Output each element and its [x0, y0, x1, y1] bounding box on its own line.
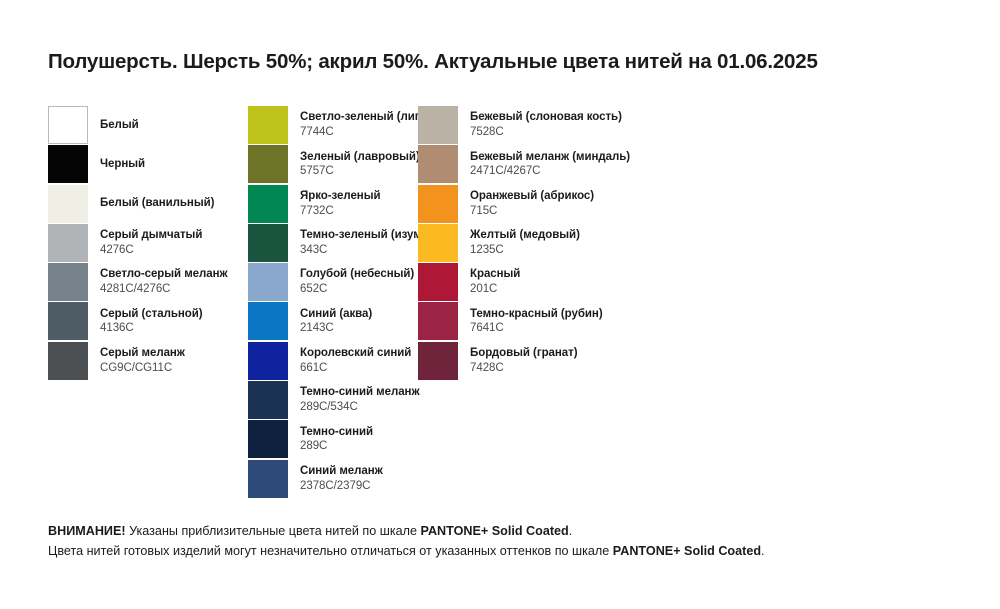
color-swatch[interactable] — [418, 106, 458, 144]
swatch-pantone-code: 4136C — [100, 321, 203, 336]
swatch-label-group: Белый — [100, 106, 139, 144]
color-swatch[interactable] — [248, 302, 288, 340]
swatch-name: Белый — [100, 118, 139, 133]
footer-line-1-brand: PANTONE+ Solid Coated — [420, 524, 568, 538]
swatch-label-group: Бежевый меланж (миндаль)2471C/4267C — [470, 145, 630, 183]
footer-line-2-text: Цвета нитей готовых изделий могут незнач… — [48, 544, 613, 558]
swatch-name: Голубой (небесный) — [300, 267, 414, 282]
swatch-name: Светло-зеленый (липа) — [300, 110, 432, 125]
swatch-name: Синий меланж — [300, 464, 383, 479]
swatch-label-group: Темно-синий меланж289C/534C — [300, 381, 420, 419]
swatch-label-group: Серый (стальной)4136C — [100, 302, 203, 340]
swatch-name: Бежевый (слоновая кость) — [470, 110, 622, 125]
swatch-pantone-code: 2378C/2379C — [300, 479, 383, 494]
color-swatch[interactable] — [418, 145, 458, 183]
swatch-name: Ярко-зеленый — [300, 189, 381, 204]
color-swatch[interactable] — [248, 420, 288, 458]
swatch-name: Оранжевый (абрикос) — [470, 189, 594, 204]
swatch-name: Черный — [100, 157, 145, 172]
swatch-pantone-code: 7744C — [300, 125, 432, 140]
color-swatch[interactable] — [48, 106, 88, 144]
color-swatch[interactable] — [418, 342, 458, 380]
swatch-pantone-code: 2143C — [300, 321, 372, 336]
swatch-name: Бежевый меланж (миндаль) — [470, 150, 630, 165]
footer-warning-label: ВНИМАНИЕ! — [48, 524, 126, 538]
swatch-name: Желтый (медовый) — [470, 228, 580, 243]
swatch-pantone-code: 715C — [470, 204, 594, 219]
swatch-label-group: Ярко-зеленый7732C — [300, 185, 381, 223]
swatch-name: Королевский синий — [300, 346, 411, 361]
swatch-name: Серый (стальной) — [100, 307, 203, 322]
swatch-name: Синий (аква) — [300, 307, 372, 322]
swatch-pantone-code: 201C — [470, 282, 520, 297]
swatch-label-group: Синий меланж2378C/2379C — [300, 460, 383, 498]
swatch-pantone-code: 4276C — [100, 243, 202, 258]
swatch-label-group: Синий (аква)2143C — [300, 302, 372, 340]
swatch-pantone-code: 7641C — [470, 321, 603, 336]
swatch-name: Зеленый (лавровый) — [300, 150, 420, 165]
footer-notice: ВНИМАНИЕ! Указаны приблизительные цвета … — [48, 521, 958, 562]
color-swatch[interactable] — [418, 263, 458, 301]
footer-line-2-end: . — [761, 544, 765, 558]
color-swatch[interactable] — [248, 263, 288, 301]
swatch-name: Темно-синий меланж — [300, 385, 420, 400]
swatch-pantone-code: CG9C/CG11C — [100, 361, 185, 376]
swatch-name: Серый меланж — [100, 346, 185, 361]
swatch-pantone-code: 7428C — [470, 361, 578, 376]
color-swatch[interactable] — [48, 185, 88, 223]
page-title: Полушерсть. Шерсть 50%; акрил 50%. Актуа… — [48, 50, 818, 74]
swatch-name: Красный — [470, 267, 520, 282]
swatch-label-group: Голубой (небесный)652C — [300, 263, 414, 301]
swatch-name: Темно-красный (рубин) — [470, 307, 603, 322]
color-swatch[interactable] — [248, 460, 288, 498]
swatch-pantone-code: 661C — [300, 361, 411, 376]
color-swatch[interactable] — [418, 302, 458, 340]
color-swatch[interactable] — [248, 342, 288, 380]
swatch-label-group: Темно-красный (рубин)7641C — [470, 302, 603, 340]
swatch-name: Бордовый (гранат) — [470, 346, 578, 361]
color-swatch[interactable] — [248, 224, 288, 262]
color-swatch[interactable] — [48, 263, 88, 301]
color-swatch[interactable] — [48, 342, 88, 380]
swatch-pantone-code: 7528C — [470, 125, 622, 140]
footer-line-2-brand: PANTONE+ Solid Coated — [613, 544, 761, 558]
swatch-name: Светло-серый меланж — [100, 267, 228, 282]
swatch-label-group: Черный — [100, 145, 145, 183]
swatch-name: Белый (ванильный) — [100, 196, 214, 211]
swatch-pantone-code: 5757C — [300, 164, 420, 179]
swatch-name: Серый дымчатый — [100, 228, 202, 243]
swatch-label-group: Бордовый (гранат)7428C — [470, 342, 578, 380]
swatch-pantone-code: 4281C/4276C — [100, 282, 228, 297]
swatch-pantone-code: 2471C/4267C — [470, 164, 630, 179]
swatch-pantone-code: 289C — [300, 439, 373, 454]
color-swatch[interactable] — [48, 224, 88, 262]
color-swatch[interactable] — [248, 381, 288, 419]
color-swatch[interactable] — [418, 224, 458, 262]
footer-line-2: Цвета нитей готовых изделий могут незнач… — [48, 541, 958, 561]
swatch-name: Темно-синий — [300, 425, 373, 440]
swatch-label-group: Светло-серый меланж4281C/4276C — [100, 263, 228, 301]
swatch-label-group: Желтый (медовый)1235C — [470, 224, 580, 262]
color-swatch[interactable] — [248, 106, 288, 144]
swatch-label-group: Белый (ванильный) — [100, 185, 214, 223]
swatch-label-group: Красный201C — [470, 263, 520, 301]
color-swatch[interactable] — [248, 145, 288, 183]
color-swatch[interactable] — [248, 185, 288, 223]
swatch-label-group: Серый меланжCG9C/CG11C — [100, 342, 185, 380]
footer-line-1: ВНИМАНИЕ! Указаны приблизительные цвета … — [48, 521, 958, 541]
color-swatch[interactable] — [48, 302, 88, 340]
swatch-pantone-code: 7732C — [300, 204, 381, 219]
color-swatch[interactable] — [418, 185, 458, 223]
swatch-label-group: Оранжевый (абрикос)715C — [470, 185, 594, 223]
swatch-label-group: Зеленый (лавровый)5757C — [300, 145, 420, 183]
swatch-pantone-code: 652C — [300, 282, 414, 297]
swatch-pantone-code: 289C/534C — [300, 400, 420, 415]
swatch-label-group: Королевский синий661C — [300, 342, 411, 380]
swatch-label-group: Темно-синий289C — [300, 420, 373, 458]
color-swatch[interactable] — [48, 145, 88, 183]
swatch-label-group: Серый дымчатый4276C — [100, 224, 202, 262]
swatch-label-group: Светло-зеленый (липа)7744C — [300, 106, 432, 144]
footer-line-1-text: Указаны приблизительные цвета нитей по ш… — [126, 524, 421, 538]
footer-line-1-end: . — [569, 524, 573, 538]
swatch-label-group: Бежевый (слоновая кость)7528C — [470, 106, 622, 144]
swatch-pantone-code: 1235C — [470, 243, 580, 258]
